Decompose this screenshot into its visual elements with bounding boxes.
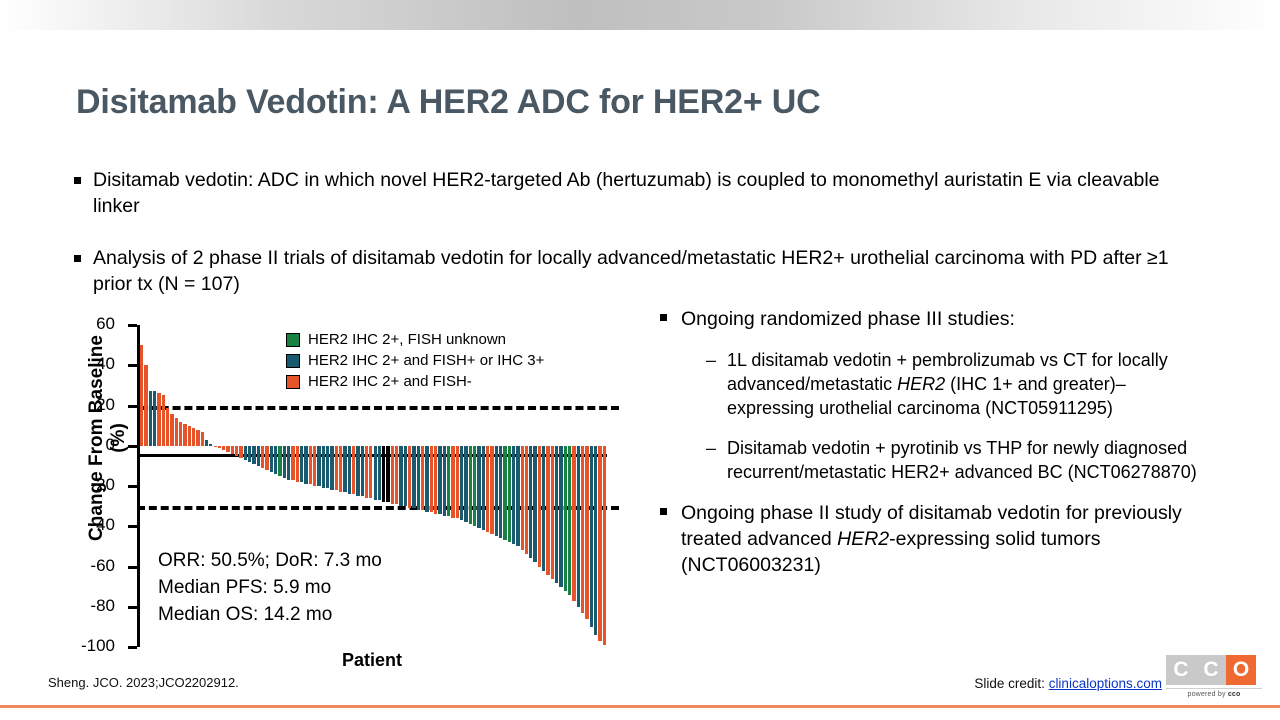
chart-bar [417, 446, 420, 510]
top-decorative-band [0, 0, 1280, 30]
chart-bar [495, 446, 498, 537]
chart-bar [555, 446, 558, 583]
cco-logo-letter-o-2: O [1226, 655, 1256, 685]
legend-swatch-green [286, 333, 300, 347]
bullet-item: Ongoing randomized phase III studies: [660, 306, 1206, 332]
sub-bullet-dash-icon: – [706, 348, 716, 372]
chart-bar [214, 446, 217, 447]
bullet-item: Analysis of 2 phase II trials of disitam… [74, 246, 1194, 297]
chart-bar [404, 446, 407, 506]
chart-x-axis-label: Patient [137, 650, 607, 671]
chart-y-tick: -60 [128, 566, 137, 569]
chart-y-tick: -40 [128, 525, 137, 528]
chart-bar [265, 446, 268, 470]
chart-bar [603, 446, 606, 645]
chart-bar [581, 446, 584, 613]
chart-bar [274, 446, 277, 474]
chart-bar [551, 446, 554, 579]
chart-bar [598, 446, 601, 641]
chart-bar [499, 446, 502, 539]
chart-bar [529, 446, 532, 559]
chart-bar [430, 446, 433, 512]
legend-item: HER2 IHC 2+ and FISH+ or IHC 3+ [286, 351, 544, 370]
chart-bar [222, 446, 225, 450]
chart-bar [226, 446, 229, 452]
chart-bar [546, 446, 549, 575]
bullet-item: Ongoing phase II study of disitamab vedo… [660, 500, 1206, 578]
chart-bar [382, 446, 385, 502]
chart-bar [270, 446, 273, 472]
bullet-text: Analysis of 2 phase II trials of disitam… [93, 246, 1194, 297]
legend-swatch-teal [286, 354, 300, 368]
chart-bar [335, 446, 338, 490]
chart-bar [482, 446, 485, 531]
chart-bar [361, 446, 364, 496]
chart-y-tick: 40 [128, 364, 137, 367]
chart-bar [343, 446, 346, 492]
chart-bar [348, 446, 351, 494]
sub-bullet-text: 1L disitamab vedotin + pembrolizumab vs … [727, 348, 1206, 420]
clinicaloptions-link[interactable]: clinicaloptions.com [1049, 676, 1162, 691]
chart-y-tick-label: 60 [96, 314, 115, 334]
chart-y-tick: -20 [128, 485, 137, 488]
chart-y-tick: 20 [128, 405, 137, 408]
chart-y-tick-label: 40 [96, 354, 115, 374]
chart-bar [564, 446, 567, 591]
chart-bar [412, 446, 415, 508]
chart-bar [451, 446, 454, 518]
chart-bar [369, 446, 372, 498]
bullet-square-icon [660, 314, 667, 321]
chart-bar [257, 446, 260, 466]
chart-bar [572, 446, 575, 601]
chart-bar [525, 446, 528, 555]
chart-bar [313, 446, 316, 486]
citation-text: Sheng. JCO. 2023;JCO2202912. [48, 675, 239, 690]
chart-bar [205, 440, 208, 446]
sub-bullet-text: Disitamab vedotin + pyrotinib vs THP for… [727, 436, 1206, 484]
chart-bar [330, 446, 333, 490]
chart-bar [559, 446, 562, 587]
chart-bar [291, 446, 294, 480]
sub-bullet-dash-icon: – [706, 436, 716, 460]
chart-bar [374, 446, 377, 500]
chart-bar [175, 418, 178, 446]
chart-bar [140, 345, 143, 446]
chart-bar [503, 446, 506, 541]
chart-y-tick: 60 [128, 324, 137, 327]
chart-bar [149, 391, 152, 445]
chart-bar [425, 446, 428, 512]
chart-bar [244, 446, 247, 460]
chart-bar [443, 446, 446, 516]
chart-bar [278, 446, 281, 476]
chart-bar [408, 446, 411, 508]
chart-y-tick-label: -60 [90, 556, 115, 576]
chart-bar [179, 422, 182, 446]
chart-bar [201, 432, 204, 446]
right-bullet-list: Ongoing randomized phase III studies: – … [660, 306, 1206, 594]
legend-label: HER2 IHC 2+, FISH unknown [308, 331, 506, 348]
chart-y-tick-label: -80 [90, 596, 115, 616]
chart-bar [196, 430, 199, 446]
chart-bar [352, 446, 355, 494]
chart-bar [157, 393, 160, 445]
chart-bar [538, 446, 541, 567]
chart-bar [447, 446, 450, 516]
chart-annotation-line: Median PFS: 5.9 mo [158, 574, 382, 601]
chart-bar [322, 446, 325, 488]
chart-bar [378, 446, 381, 500]
chart-bar [395, 446, 398, 504]
chart-bar [209, 444, 212, 446]
chart-bar [577, 446, 580, 607]
chart-bar [386, 446, 389, 502]
bullet-text: Ongoing phase II study of disitamab vedo… [681, 500, 1206, 578]
intro-bullet-list: Disitamab vedotin: ADC in which novel HE… [74, 168, 1194, 297]
chart-y-tick-label: -40 [90, 515, 115, 535]
chart-y-tick: -80 [128, 606, 137, 609]
chart-y-tick-label: 20 [96, 395, 115, 415]
chart-bar [339, 446, 342, 492]
chart-bar [521, 446, 524, 551]
logo-tagline-prefix: powered by [1187, 691, 1227, 698]
bullet-item: Disitamab vedotin: ADC in which novel HE… [74, 168, 1194, 219]
sub-bullet-item: – Disitamab vedotin + pyrotinib vs THP f… [706, 436, 1206, 484]
bottom-accent-rule [0, 705, 1280, 708]
chart-bar [326, 446, 329, 488]
chart-bar [356, 446, 359, 496]
chart-bar [438, 446, 441, 514]
cco-logo-tagline: powered by cco [1166, 688, 1262, 698]
chart-annotations: ORR: 50.5%; DoR: 7.3 moMedian PFS: 5.9 m… [158, 547, 382, 628]
chart-bar [144, 365, 147, 446]
chart-bar [477, 446, 480, 529]
chart-bar [183, 424, 186, 446]
chart-y-tick: -100 [128, 646, 137, 649]
chart-bar [542, 446, 545, 571]
chart-bar [568, 446, 571, 595]
chart-bar [309, 446, 312, 484]
chart-bar [231, 446, 234, 454]
chart-legend: HER2 IHC 2+, FISH unknownHER2 IHC 2+ and… [286, 330, 544, 393]
sub-bullet-item: – 1L disitamab vedotin + pembrolizumab v… [706, 348, 1206, 420]
cco-logo-letter-c-1: C [1196, 655, 1226, 685]
chart-bar [239, 446, 242, 458]
legend-item: HER2 IHC 2+ and FISH- [286, 372, 544, 391]
chart-bar [490, 446, 493, 535]
chart-bar [508, 446, 511, 543]
chart-bar [261, 446, 264, 468]
chart-bar [170, 414, 173, 446]
chart-bar [162, 395, 165, 445]
legend-label: HER2 IHC 2+ and FISH- [308, 373, 472, 390]
chart-bar [317, 446, 320, 486]
chart-y-tick-label: -100 [81, 636, 115, 656]
bullet-square-icon [74, 177, 81, 184]
chart-y-tick-label: -20 [90, 475, 115, 495]
chart-bar [399, 446, 402, 506]
chart-annotation-line: ORR: 50.5%; DoR: 7.3 mo [158, 547, 382, 574]
cco-logo: CCO powered by cco [1166, 655, 1262, 698]
chart-bar [516, 446, 519, 547]
chart-bar [456, 446, 459, 518]
bullet-text: Ongoing randomized phase III studies: [681, 306, 1015, 332]
bullet-text: Disitamab vedotin: ADC in which novel HE… [93, 168, 1194, 219]
chart-bar [421, 446, 424, 510]
chart-bar [218, 446, 221, 448]
chart-bar [304, 446, 307, 484]
legend-item: HER2 IHC 2+, FISH unknown [286, 330, 544, 349]
cco-logo-boxes: CCO [1166, 655, 1262, 685]
chart-bar [166, 408, 169, 446]
bullet-square-icon [660, 508, 667, 515]
chart-y-tick: 0 [128, 445, 137, 448]
bullet-square-icon [74, 255, 81, 262]
chart-bar [533, 446, 536, 563]
chart-bar [283, 446, 286, 478]
chart-annotation-line: Median OS: 14.2 mo [158, 601, 382, 628]
chart-bar [391, 446, 394, 504]
chart-bar [188, 426, 191, 446]
chart-bar [235, 446, 238, 456]
chart-bar [192, 428, 195, 446]
chart-bar [594, 446, 597, 635]
chart-bar [252, 446, 255, 464]
chart-bar [248, 446, 251, 462]
slide-credit-label: Slide credit: [974, 676, 1048, 691]
chart-bar [300, 446, 303, 482]
legend-label: HER2 IHC 2+ and FISH+ or IHC 3+ [308, 352, 544, 369]
chart-bar [296, 446, 299, 482]
chart-bar [287, 446, 290, 480]
chart-bar [512, 446, 515, 545]
slide-credit: Slide credit: clinicaloptions.com [974, 676, 1162, 691]
chart-bar [486, 446, 489, 533]
chart-bar [590, 446, 593, 627]
chart-bar [464, 446, 467, 522]
chart-bar [473, 446, 476, 527]
chart-bar [460, 446, 463, 520]
chart-bar [585, 446, 588, 619]
chart-bar [469, 446, 472, 524]
legend-swatch-orange [286, 375, 300, 389]
chart-bar [153, 391, 156, 445]
chart-bar [434, 446, 437, 514]
cco-logo-letter-c-0: C [1166, 655, 1196, 685]
waterfall-chart: Change From Baseline (%) 6040200-20-40-6… [46, 312, 646, 667]
chart-y-tick-label: 0 [106, 435, 115, 455]
logo-tagline-brand: cco [1228, 691, 1241, 698]
page-title: Disitamab Vedotin: A HER2 ADC for HER2+ … [76, 83, 1196, 122]
chart-bar [365, 446, 368, 498]
